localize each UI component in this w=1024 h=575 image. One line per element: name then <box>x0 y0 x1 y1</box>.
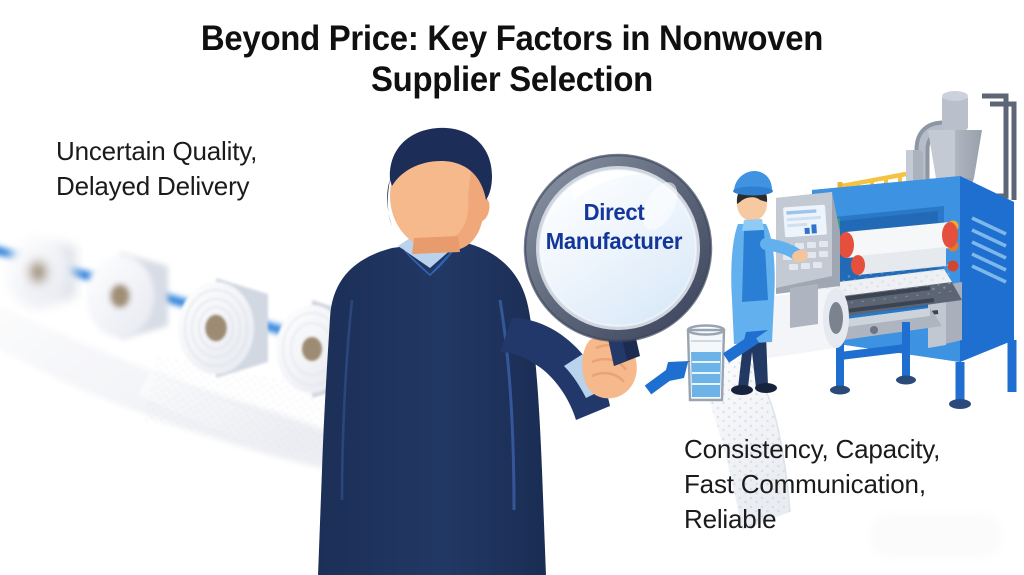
watermark-pill <box>876 519 996 553</box>
roll-1 <box>7 236 76 308</box>
process-arrow-left <box>648 361 690 390</box>
label-left-line-2: Delayed Delivery <box>56 169 356 204</box>
label-pain-points: Uncertain Quality, Delayed Delivery <box>56 134 356 204</box>
infographic-canvas: Beyond Price: Key Factors in Nonwoven Su… <box>0 0 1024 575</box>
fabric-roll-chain <box>0 236 360 470</box>
label-right-line-2: Fast Communication, <box>684 467 1004 502</box>
label-left-line-1: Uncertain Quality, <box>56 134 356 169</box>
lens-line-2: Manufacturer <box>523 227 705 256</box>
roll-2 <box>86 252 168 340</box>
label-right-line-1: Consistency, Capacity, <box>684 432 1004 467</box>
title-line-1: Beyond Price: Key Factors in Nonwoven <box>201 19 823 58</box>
lens-line-1: Direct <box>523 198 705 227</box>
title-line-2: Supplier Selection <box>31 59 994 100</box>
lab-beaker <box>688 326 724 401</box>
magnifier-lens-text: Direct Manufacturer <box>523 198 705 256</box>
hopper-piping <box>982 96 1014 200</box>
page-title: Beyond Price: Key Factors in Nonwoven Su… <box>31 18 994 100</box>
roll-3 <box>178 278 268 378</box>
